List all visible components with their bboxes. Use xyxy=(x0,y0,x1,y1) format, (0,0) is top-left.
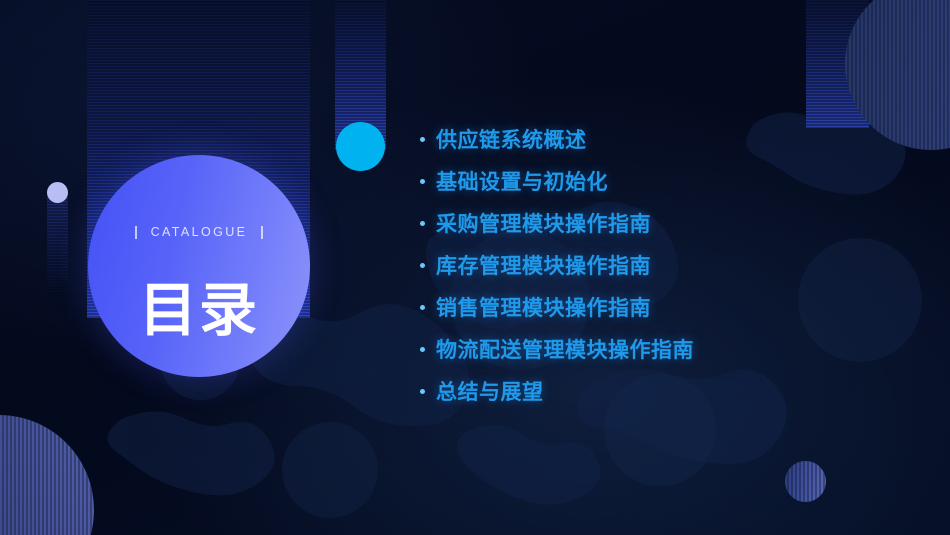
catalogue-title: 目录 xyxy=(88,282,310,340)
decorative-circle-bottom-right xyxy=(785,461,826,502)
toc-item[interactable]: 销售管理模块操作指南 xyxy=(420,286,900,328)
toc-item-label: 销售管理模块操作指南 xyxy=(436,292,651,322)
toc-item-label: 库存管理模块操作指南 xyxy=(436,250,651,280)
decorative-circle-bottom-left xyxy=(0,415,94,535)
catalogue-badge: CATALOGUE 目录 xyxy=(88,155,310,377)
bullet-dot-icon xyxy=(420,347,436,352)
decorative-circle-lavender xyxy=(47,182,68,203)
toc-item[interactable]: 总结与展望 xyxy=(420,370,900,412)
bullet-dot-icon xyxy=(420,179,436,184)
bullet-dot-icon xyxy=(420,263,436,268)
catalogue-eyebrow: CATALOGUE xyxy=(88,225,310,239)
catalogue-eyebrow-label: CATALOGUE xyxy=(151,225,248,239)
bullet-dot-icon xyxy=(420,221,436,226)
toc-item[interactable]: 物流配送管理模块操作指南 xyxy=(420,328,900,370)
decorative-bar-small xyxy=(47,192,68,296)
bullet-dot-icon xyxy=(420,137,436,142)
bullet-dot-icon xyxy=(420,389,436,394)
tick-right-icon xyxy=(261,226,263,239)
table-of-contents: 供应链系统概述 基础设置与初始化 采购管理模块操作指南 库存管理模块操作指南 销… xyxy=(420,118,900,412)
toc-item-label: 采购管理模块操作指南 xyxy=(436,208,651,238)
decorative-circle-cyan xyxy=(336,122,385,171)
toc-item[interactable]: 基础设置与初始化 xyxy=(420,160,900,202)
toc-item[interactable]: 采购管理模块操作指南 xyxy=(420,202,900,244)
toc-item-label: 供应链系统概述 xyxy=(436,124,587,154)
toc-item-label: 基础设置与初始化 xyxy=(436,166,608,196)
catalogue-slide: CATALOGUE 目录 供应链系统概述 基础设置与初始化 采购管理模块操作指南… xyxy=(0,0,950,535)
toc-item[interactable]: 库存管理模块操作指南 xyxy=(420,244,900,286)
toc-item-label: 总结与展望 xyxy=(436,376,544,406)
bullet-dot-icon xyxy=(420,305,436,310)
toc-item[interactable]: 供应链系统概述 xyxy=(420,118,900,160)
tick-left-icon xyxy=(135,226,137,239)
toc-item-label: 物流配送管理模块操作指南 xyxy=(436,334,694,364)
